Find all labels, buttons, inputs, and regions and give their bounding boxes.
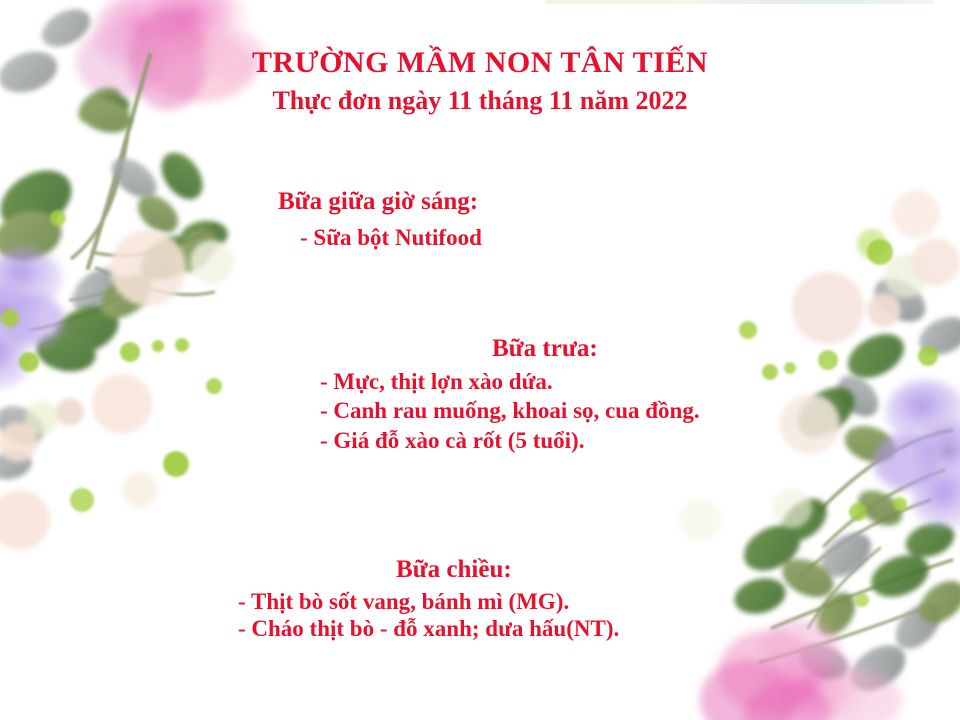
- lunch-item: - Giá đỗ xào cà rốt (5 tuổi).: [320, 428, 584, 454]
- dinner-item: - Thịt bò sốt vang, bánh mì (MG).: [238, 589, 569, 615]
- morning-snack-heading: Bữa giữa giờ sáng:: [278, 188, 478, 216]
- lunch-item: - Canh rau muống, khoai sọ, cua đồng.: [320, 398, 700, 424]
- menu-text-content: TRƯỜNG MẦM NON TÂN TIẾN Thực đơn ngày 11…: [0, 0, 960, 720]
- menu-poster: TRƯỜNG MẦM NON TÂN TIẾN Thực đơn ngày 11…: [0, 0, 960, 720]
- morning-snack-item: - Sữa bột Nutifood: [300, 225, 482, 251]
- dinner-heading: Bữa chiều:: [396, 556, 512, 584]
- school-name: TRƯỜNG MẦM NON TÂN TIẾN: [0, 46, 960, 80]
- lunch-item: - Mực, thịt lợn xào dứa.: [320, 369, 553, 395]
- lunch-heading: Bữa trưa:: [492, 335, 598, 363]
- menu-date: Thực đơn ngày 11 tháng 11 năm 2022: [0, 86, 960, 115]
- dinner-item: - Cháo thịt bò - đỗ xanh; dưa hấu(NT).: [238, 616, 619, 642]
